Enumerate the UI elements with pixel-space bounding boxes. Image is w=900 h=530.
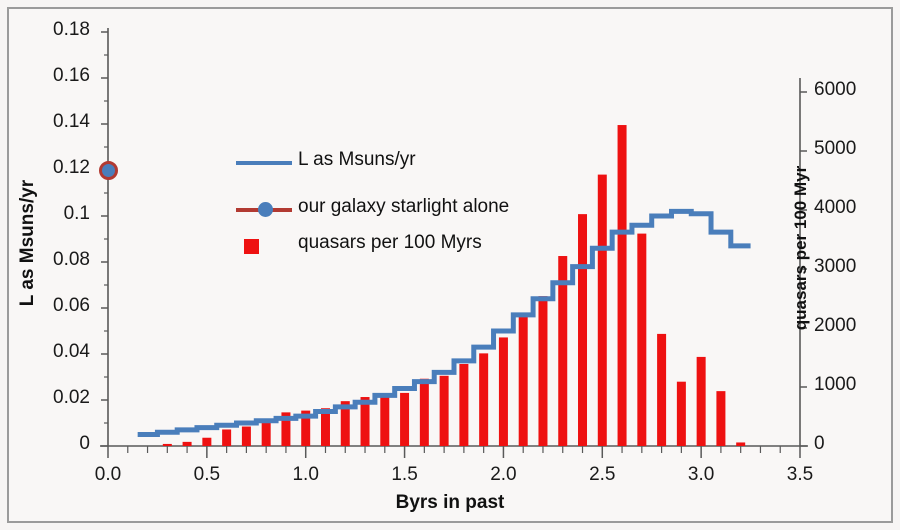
x-axis-tick-label: 0.5 bbox=[175, 464, 239, 486]
y-axis-tick-label: 0.04 bbox=[24, 341, 90, 363]
y-axis-tick-label: 0.14 bbox=[24, 111, 90, 133]
bar bbox=[697, 357, 706, 446]
bar bbox=[657, 334, 666, 446]
x-axis-tick-label: 3.5 bbox=[768, 464, 832, 486]
y-axis-right-tick-label: 4000 bbox=[814, 197, 884, 219]
bar bbox=[479, 353, 488, 446]
bar-series bbox=[163, 125, 745, 446]
legend-label: quasars per 100 Myrs bbox=[298, 232, 482, 254]
bar bbox=[716, 391, 725, 446]
y-axis-right-tick-label: 5000 bbox=[814, 138, 884, 160]
bar bbox=[262, 421, 271, 446]
bar bbox=[202, 438, 211, 446]
x-axis-tick-label: 3.0 bbox=[669, 464, 733, 486]
y-axis-tick-label: 0.1 bbox=[24, 203, 90, 225]
legend-label: our galaxy starlight alone bbox=[298, 196, 509, 218]
y-axis-tick-label: 0.18 bbox=[24, 19, 90, 41]
bar bbox=[222, 429, 231, 446]
galaxy-starlight-marker bbox=[99, 161, 118, 180]
bar bbox=[380, 395, 389, 446]
x-axis-tick-label: 2.5 bbox=[570, 464, 634, 486]
y-axis-tick-label: 0.02 bbox=[24, 387, 90, 409]
y-axis-right-tick-label: 0 bbox=[814, 433, 884, 455]
bar bbox=[420, 379, 429, 446]
bar bbox=[736, 442, 745, 446]
legend-bar-swatch bbox=[244, 239, 259, 254]
bar bbox=[618, 125, 627, 446]
y-axis-tick-label: 0 bbox=[24, 433, 90, 455]
bar bbox=[183, 442, 192, 446]
legend-label: L as Msuns/yr bbox=[298, 149, 416, 171]
bar bbox=[519, 314, 528, 446]
y-axis-right-tick-label: 6000 bbox=[814, 79, 884, 101]
bar bbox=[459, 364, 468, 446]
bar bbox=[637, 234, 646, 446]
y-axis-tick-label: 0.08 bbox=[24, 249, 90, 271]
legend-line-swatch bbox=[236, 161, 292, 165]
x-axis-tick-label: 1.5 bbox=[373, 464, 437, 486]
bar bbox=[440, 376, 449, 446]
y-axis-right-tick-label: 1000 bbox=[814, 374, 884, 396]
chart-figure: L as Msuns/yr quasars per 100 Myr Byrs i… bbox=[0, 0, 900, 530]
y-axis-tick-label: 0.16 bbox=[24, 65, 90, 87]
legend-marker-dot bbox=[258, 202, 273, 217]
bar bbox=[499, 337, 508, 446]
bar bbox=[242, 427, 251, 446]
y-axis-tick-label: 0.12 bbox=[24, 157, 90, 179]
bar bbox=[538, 296, 547, 446]
y-axis-right-title: quasars per 100 Myr bbox=[791, 153, 811, 343]
y-axis-right-tick-label: 3000 bbox=[814, 256, 884, 278]
x-axis-tick-label: 2.0 bbox=[471, 464, 535, 486]
x-axis-title: Byrs in past bbox=[330, 492, 570, 514]
bar bbox=[163, 444, 172, 446]
plot-area bbox=[0, 0, 900, 530]
bar bbox=[578, 214, 587, 446]
x-axis-tick-label: 1.0 bbox=[274, 464, 338, 486]
x-axis-tick-label: 0.0 bbox=[76, 464, 140, 486]
bar bbox=[598, 175, 607, 446]
y-axis-tick-label: 0.06 bbox=[24, 295, 90, 317]
y-axis-right-tick-label: 2000 bbox=[814, 315, 884, 337]
bar bbox=[400, 393, 409, 446]
bar bbox=[677, 382, 686, 446]
